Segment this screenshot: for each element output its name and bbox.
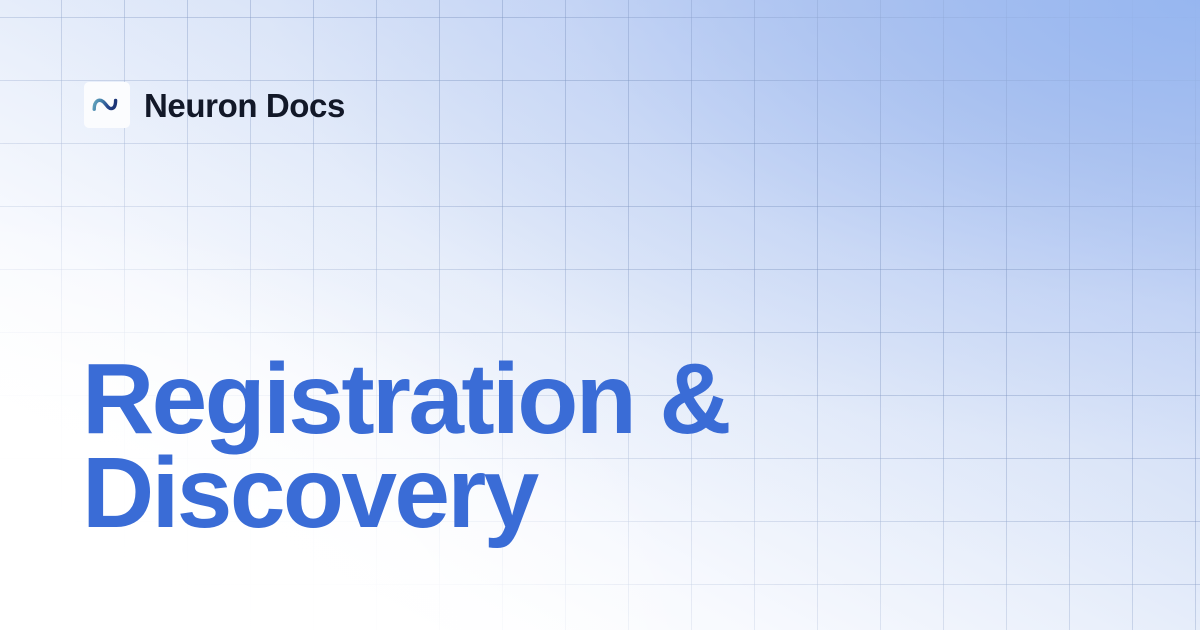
sine-wave-icon xyxy=(90,88,124,122)
og-image-canvas: Neuron Docs Registration & Discovery xyxy=(0,0,1200,630)
brand-lockup: Neuron Docs xyxy=(84,82,345,128)
brand-name-label: Neuron Docs xyxy=(144,89,345,122)
page-title: Registration & Discovery xyxy=(82,352,842,540)
brand-logo-tile xyxy=(84,82,130,128)
hero-heading-block: Registration & Discovery xyxy=(82,352,842,540)
